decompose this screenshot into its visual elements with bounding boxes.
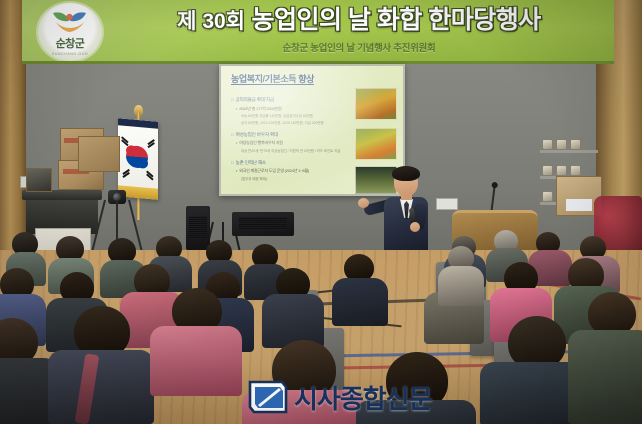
- event-photograph: 순창군 SUNCHANG-GUN 제 30회 농업인의 날 화합 한마당행사 순…: [0, 0, 642, 424]
- banner-ordinal: 제 30회: [177, 10, 245, 33]
- slide-thumbnail-produce: [355, 128, 397, 160]
- shelf-item: [570, 165, 581, 176]
- slide-line: 외국인 계절근로자 도입 운영 (2024년 1~8월): [236, 168, 353, 174]
- slide-detail: 소농 80만원 지급률 140만원, 농업공익수당 60만원: [241, 113, 353, 118]
- slide-body: 공익직불금 확대 지급 2024년 총 177억 2000만원 소농 80만원 …: [231, 90, 353, 181]
- slide-detail: 삼각 80만원, 2024 120만원, 2025 150만원, 지급 200만…: [241, 120, 353, 125]
- taeguk-symbol: [126, 145, 148, 169]
- banner-title: 제 30회 농업인의 날 화합 한마당행사: [110, 3, 608, 39]
- slide-heading: 농촌 인력난 해소: [231, 160, 353, 166]
- event-banner: 순창군 SUNCHANG-GUN 제 30회 농업인의 날 화합 한마당행사 순…: [22, 0, 614, 64]
- sisa-newspaper-logo-icon: [248, 378, 288, 416]
- slide-thumbnail-harvest: [355, 88, 397, 120]
- cardboard-box: [78, 136, 120, 172]
- banner-subtitle: 순창군 농업인의 날 기념행사 추진위원회: [110, 40, 608, 54]
- slide-title-text: 농업복지/기본소득 향상: [231, 74, 314, 85]
- slide-heading: 공익직불금 확대 지급: [231, 97, 353, 103]
- presenter-right-hand: [410, 222, 420, 232]
- wall-shelf: [540, 150, 598, 153]
- presenter-hair: [392, 166, 420, 181]
- shelf-item: [570, 139, 581, 150]
- shelf-item: [542, 165, 553, 176]
- shelf-item: [556, 165, 567, 176]
- shelf-item: [542, 139, 553, 150]
- dark-equipment-case: [26, 168, 52, 192]
- sunchang-county-logo: 순창군 SUNCHANG-GUN: [38, 3, 102, 61]
- logo-romanized: SUNCHANG-GUN: [52, 52, 88, 56]
- slide-line: 2024년 총 177억 2000만원: [236, 106, 353, 112]
- slide-title: 농업복지/기본소득 향상: [231, 72, 314, 85]
- newspaper-watermark: 시사종합신문: [248, 378, 432, 416]
- sunchang-county-emblem-icon: [50, 10, 90, 32]
- watermark-text: 시사종합신문: [294, 379, 432, 416]
- logo-text: 순창군: [56, 39, 85, 50]
- banner-title-main: 농업인의 날 화합 한마당행사: [251, 6, 540, 34]
- stage-speaker-tall: [186, 206, 210, 250]
- shelf-item: [542, 191, 553, 202]
- slide-line: 여성농업인 행복바우처 지원: [236, 140, 353, 146]
- shelf-item: [556, 139, 567, 150]
- slide-heading: 여성농업인 바우처 확대: [231, 132, 353, 138]
- slide-note: (법무부 배정 확대): [241, 176, 353, 181]
- presenter-left-hand: [358, 198, 369, 208]
- stage-speaker: [232, 212, 294, 236]
- korean-flag-icon: [118, 118, 158, 199]
- slide-note: 대상 만20세~만75세 여성농업인 / 지원액 연 20만원 / 카드 포인트…: [241, 148, 353, 153]
